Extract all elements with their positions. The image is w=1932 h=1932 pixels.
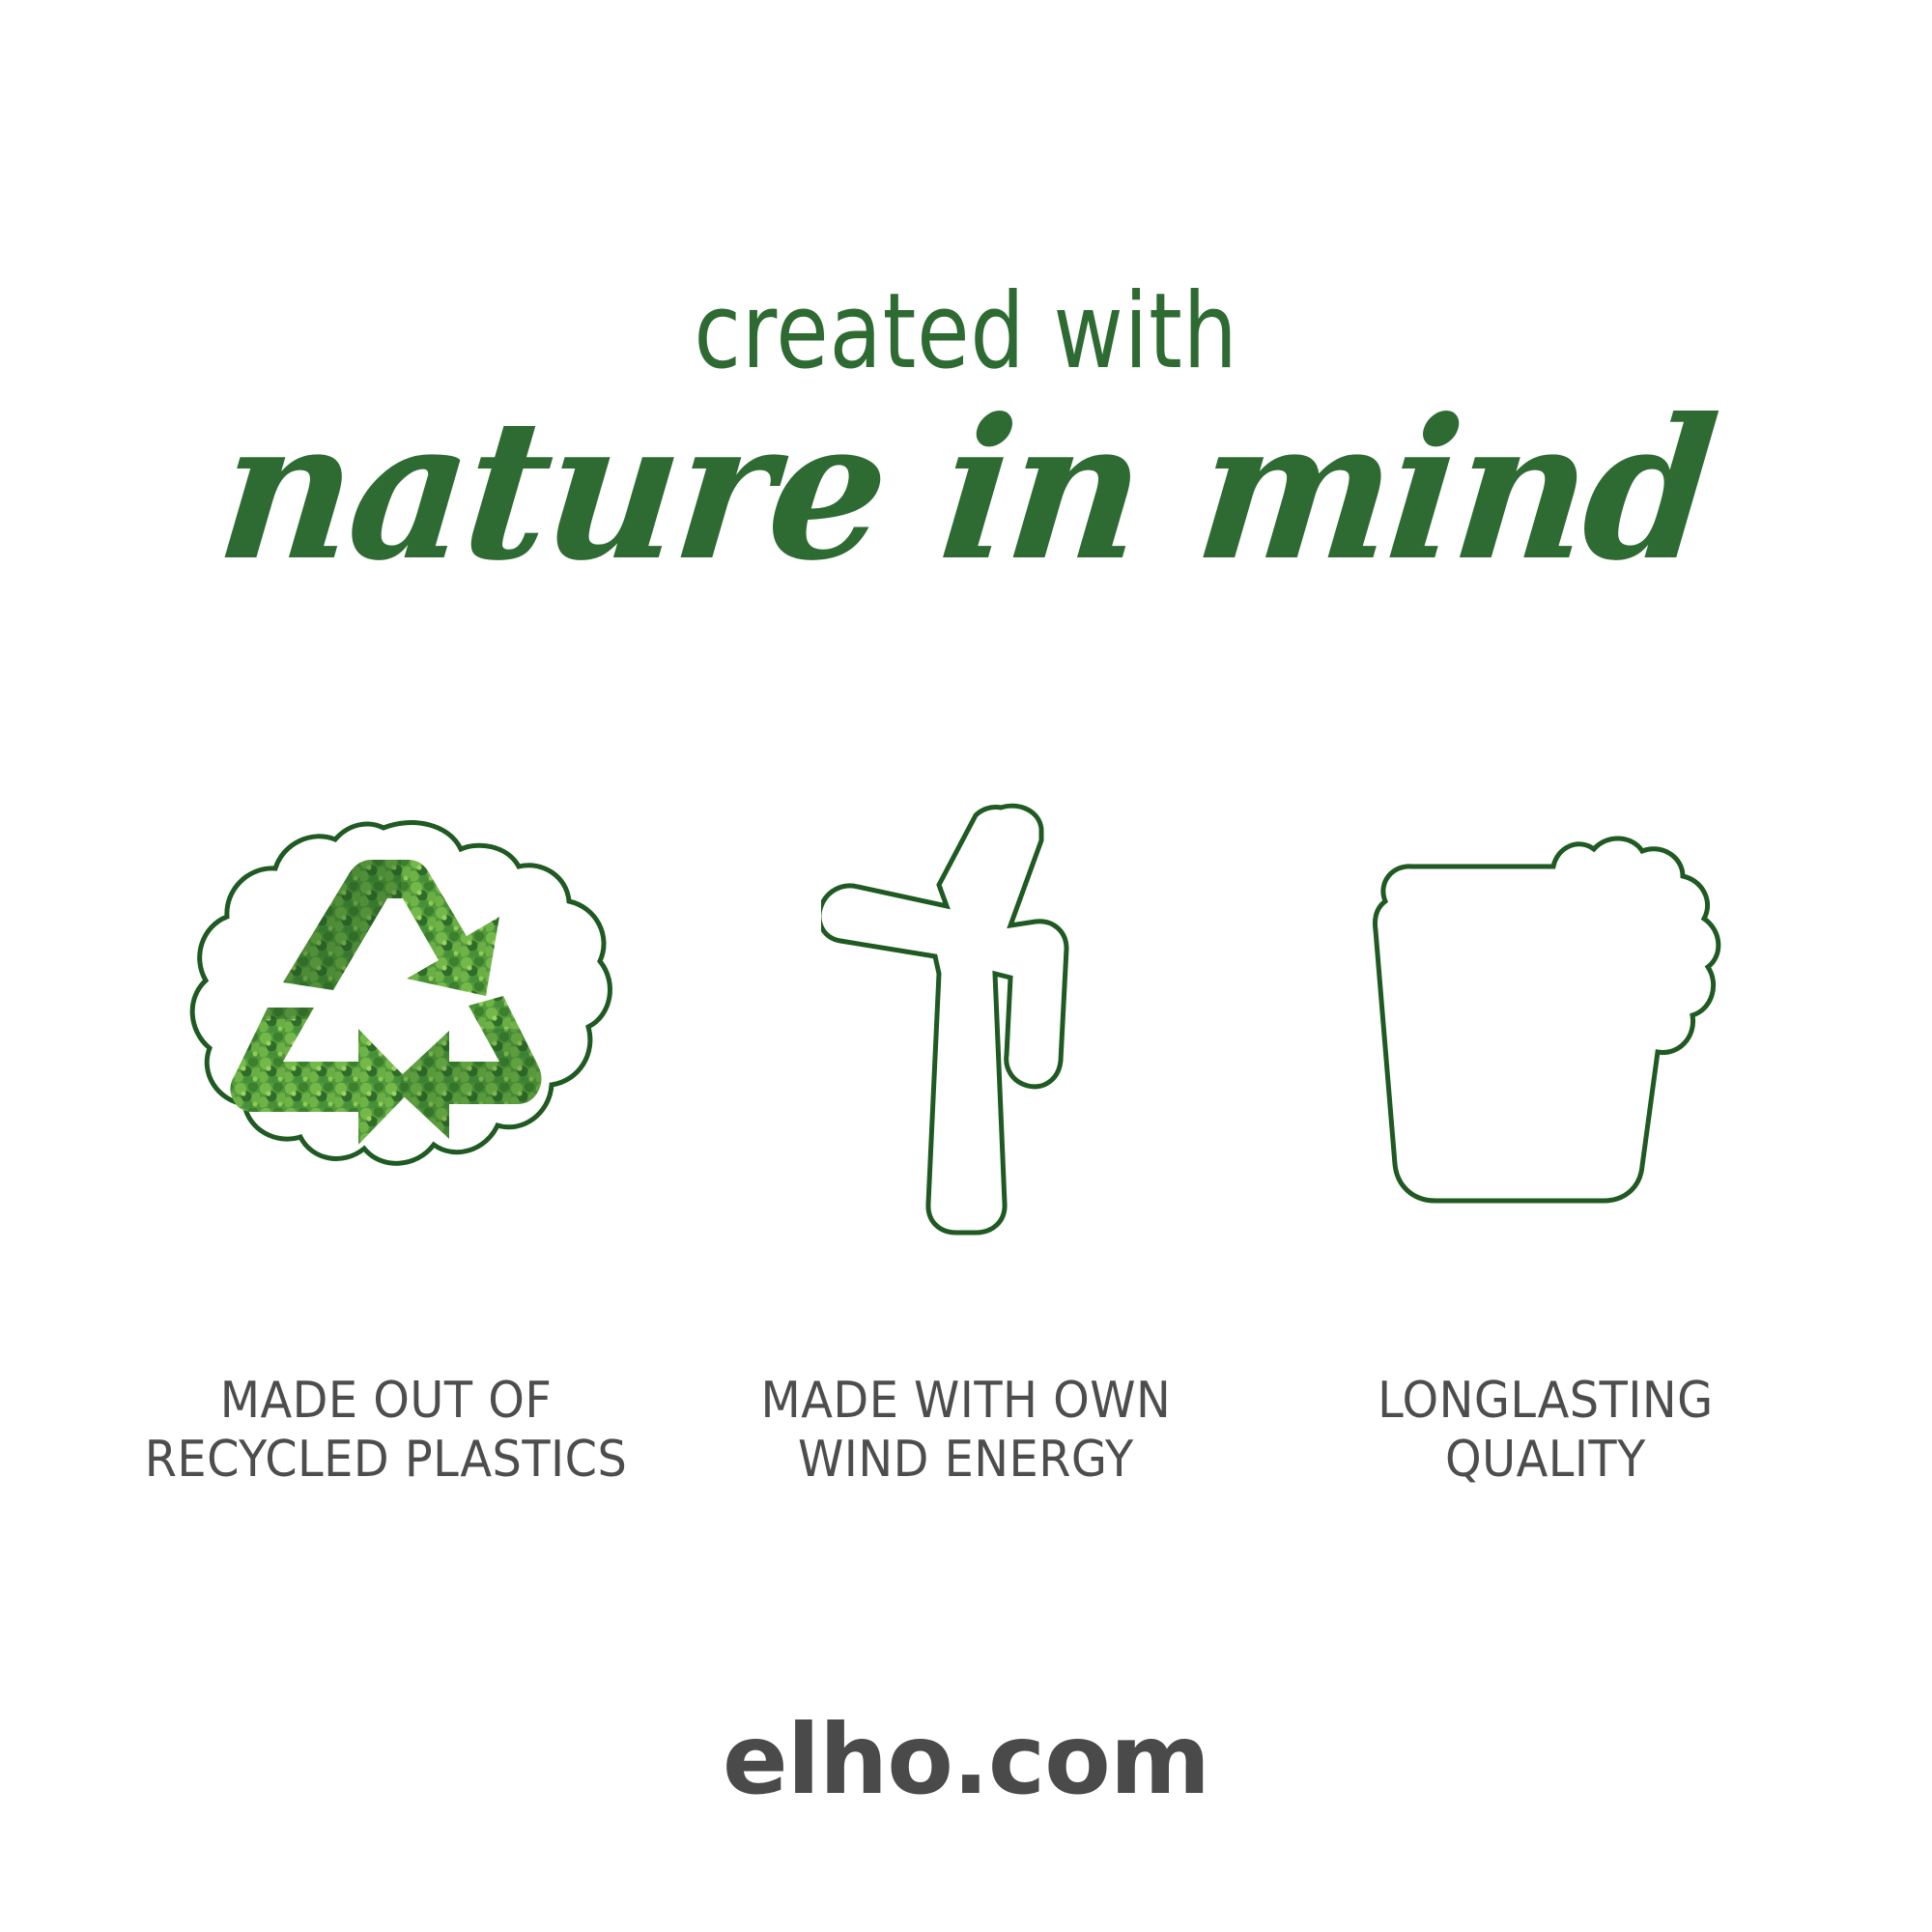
wind-turbine-icon xyxy=(821,802,1111,1236)
brand-logo[interactable]: elho.com xyxy=(723,1703,1209,1816)
label-line-1: LONGLASTING xyxy=(1378,1372,1714,1431)
label-line-2: QUALITY xyxy=(1378,1431,1714,1490)
wind-turbine-icon-wrap xyxy=(821,792,1111,1246)
feature-longlasting-quality: 1 LONGLASTING QUALITY xyxy=(1275,792,1816,1526)
headline-script: nature in mind xyxy=(38,392,1893,589)
poster-canvas: created with nature in mind xyxy=(0,0,1932,1932)
feature-label-longlasting-quality: LONGLASTING QUALITY xyxy=(1378,1372,1714,1491)
feature-label-recycled-plastics: MADE OUT OF RECYCLED PLASTICS xyxy=(145,1372,628,1491)
footer: elho.com xyxy=(0,1703,1932,1816)
label-line-1: MADE WITH OWN xyxy=(761,1372,1172,1431)
feature-recycled-plastics: MADE OUT OF RECYCLED PLASTICS xyxy=(116,792,657,1526)
wind-turbine-sticker-outline xyxy=(821,806,1066,1233)
feature-wind-energy: MADE WITH OWN WIND ENERGY xyxy=(696,792,1236,1526)
recycle-icon xyxy=(159,807,613,1232)
label-line-1: MADE OUT OF xyxy=(145,1372,628,1431)
pot-award-icon: 1 xyxy=(1352,826,1739,1212)
pot-award-icon-wrap: 1 xyxy=(1352,792,1739,1246)
award-badge-number: 1 xyxy=(1589,904,1642,1001)
label-line-2: RECYCLED PLASTICS xyxy=(145,1431,628,1490)
label-line-2: WIND ENERGY xyxy=(761,1431,1172,1490)
feature-label-wind-energy: MADE WITH OWN WIND ENERGY xyxy=(761,1372,1172,1491)
headline-eyebrow: created with xyxy=(174,280,1758,384)
headline: created with nature in mind xyxy=(0,280,1932,589)
feature-row: MADE OUT OF RECYCLED PLASTICS xyxy=(0,792,1932,1526)
recycle-icon-wrap xyxy=(159,792,613,1246)
